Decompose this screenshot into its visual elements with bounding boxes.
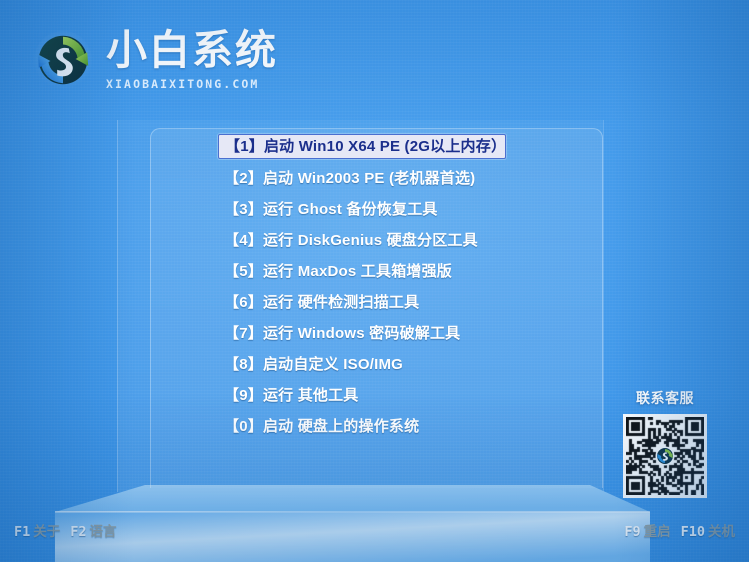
boot-menu-item-3[interactable]: 【3】运行 Ghost 备份恢复工具 [218,194,518,225]
boot-menu-item-6[interactable]: 【6】运行 硬件检测扫描工具 [218,287,518,318]
footer-label-f1[interactable]: 关于 [33,524,60,539]
brand-title: 小白系统 [106,30,278,71]
qr-center-logo-icon [656,447,675,466]
boot-menu-item-8[interactable]: 【8】启动自定义 ISO/IMG [218,349,518,380]
boot-menu-item-7[interactable]: 【7】运行 Windows 密码破解工具 [218,318,518,349]
boot-menu-item-4[interactable]: 【4】运行 DiskGenius 硬盘分区工具 [218,225,518,256]
boot-menu-item-1[interactable]: 【1】启动 Win10 X64 PE (2G以上内存） [218,134,506,159]
footer-keys-right[interactable]: F9重启F10关机 [624,520,735,540]
boot-menu-item-0[interactable]: 【0】启动 硬盘上的操作系统 [218,411,518,442]
footer-key-f9[interactable]: F9 [624,524,640,540]
brand-logo: 小白系统 XIAOBAIXITONG.COM [32,28,278,91]
qr-code-icon [623,414,707,498]
footer-key-f2[interactable]: F2 [70,524,86,540]
footer-key-f1[interactable]: F1 [14,524,30,540]
footer-key-f10[interactable]: F10 [681,524,705,540]
customer-service-block: 联系客服 [620,388,710,498]
footer-keys-left[interactable]: F1关于F2语言 [14,520,117,540]
boot-menu-list[interactable]: 【1】启动 Win10 X64 PE (2G以上内存）【2】启动 Win2003… [218,132,518,442]
brand-text: 小白系统 XIAOBAIXITONG.COM [106,28,278,91]
footer-label-f10[interactable]: 关机 [708,524,735,539]
boot-menu-item-9[interactable]: 【9】运行 其他工具 [218,380,518,411]
boot-menu-item-5[interactable]: 【5】运行 MaxDos 工具箱增强版 [218,256,518,287]
boot-menu-screen: 【1】启动 Win10 X64 PE (2G以上内存）【2】启动 Win2003… [0,0,749,562]
recycle-circle-logo-icon [32,29,94,91]
brand-domain: XIAOBAIXITONG.COM [106,77,278,91]
footer-label-f9[interactable]: 重启 [644,524,671,539]
customer-service-caption: 联系客服 [620,388,710,408]
boot-menu-item-2[interactable]: 【2】启动 Win2003 PE (老机器首选) [218,163,518,194]
footer-label-f2[interactable]: 语言 [90,524,117,539]
